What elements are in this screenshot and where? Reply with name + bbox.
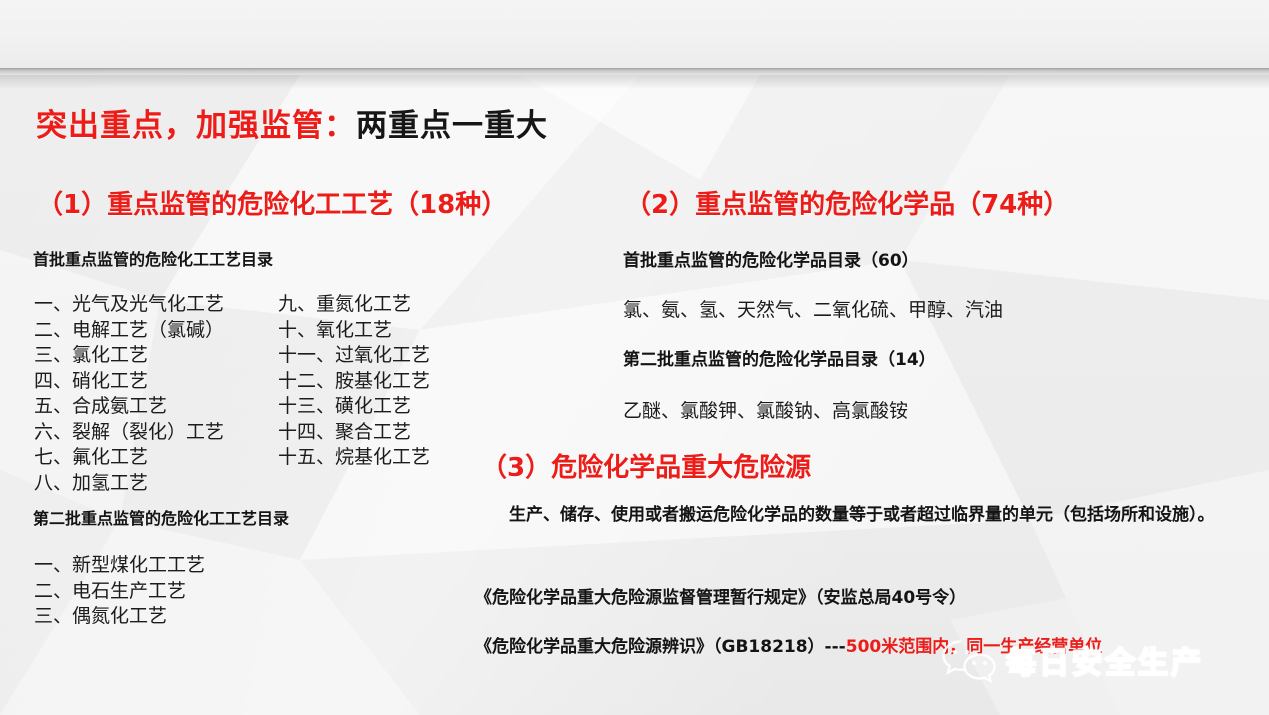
section-3-body-text: 生产、储存、使用或者搬运危险化学品的数量等于或者超过临界量的单元（包括场所和设施… bbox=[475, 502, 1265, 529]
list-item: 八、加氢工艺 bbox=[34, 471, 224, 497]
slide-content: 突出重点，加强监管：两重点一重大 （1）重点监管的危险化工工艺（18种） （2）… bbox=[0, 0, 1269, 715]
process-list-column-b: 九、重氮化工艺 十、氧化工艺 十一、过氧化工艺 十二、胺基化工艺 十三、磺化工艺… bbox=[278, 292, 430, 471]
list-item: 一、光气及光气化工艺 bbox=[34, 292, 224, 318]
list-item: 三、偶氮化工艺 bbox=[34, 604, 205, 630]
right-chemical-list-1: 氯、氨、氢、天然气、二氧化硫、甲醇、汽油 bbox=[623, 295, 1003, 322]
left-subtitle-first-batch: 首批重点监管的危险化工工艺目录 bbox=[33, 246, 273, 270]
section-1-heading: （1）重点监管的危险化工工艺（18种） bbox=[37, 184, 507, 221]
section-3-heading: （3）危险化学品重大危险源 bbox=[481, 447, 811, 484]
reference-2-black: 《危险化学品重大危险源辨识》（GB18218）--- bbox=[475, 637, 846, 657]
left-subtitle-second-batch: 第二批重点监管的危险化工工艺目录 bbox=[33, 505, 289, 529]
process-list-column-c: 一、新型煤化工工艺 二、电石生产工艺 三、偶氮化工艺 bbox=[34, 553, 205, 630]
main-heading: 突出重点，加强监管：两重点一重大 bbox=[36, 100, 548, 145]
section-3-reference-2: 《危险化学品重大危险源辨识》（GB18218）---500米范围内，同一生产经营… bbox=[475, 632, 1102, 657]
list-item: 十五、烷基化工艺 bbox=[278, 445, 430, 471]
list-item: 十一、过氧化工艺 bbox=[278, 343, 430, 369]
list-item: 二、电解工艺（氯碱） bbox=[34, 318, 224, 344]
list-item: 十三、磺化工艺 bbox=[278, 394, 430, 420]
list-item: 三、氯化工艺 bbox=[34, 343, 224, 369]
list-item: 一、新型煤化工工艺 bbox=[34, 553, 205, 579]
right-subtitle-first-batch: 首批重点监管的危险化学品目录（60） bbox=[623, 246, 919, 271]
right-chemical-list-2: 乙醚、氯酸钾、氯酸钠、高氯酸铵 bbox=[623, 396, 908, 423]
right-subtitle-second-batch: 第二批重点监管的危险化学品目录（14） bbox=[623, 345, 936, 370]
list-item: 七、氟化工艺 bbox=[34, 445, 224, 471]
list-item: 十二、胺基化工艺 bbox=[278, 369, 430, 395]
main-heading-black: 两重点一重大 bbox=[356, 108, 548, 144]
list-item: 十、氧化工艺 bbox=[278, 318, 430, 344]
list-item: 四、硝化工艺 bbox=[34, 369, 224, 395]
reference-2-red: 500米范围内，同一生产经营单位 bbox=[846, 637, 1103, 657]
list-item: 十四、聚合工艺 bbox=[278, 420, 430, 446]
list-item: 九、重氮化工艺 bbox=[278, 292, 430, 318]
section-2-heading: （2）重点监管的危险化学品（74种） bbox=[625, 184, 1069, 221]
process-list-column-a: 一、光气及光气化工艺 二、电解工艺（氯碱） 三、氯化工艺 四、硝化工艺 五、合成… bbox=[34, 292, 224, 496]
list-item: 二、电石生产工艺 bbox=[34, 579, 205, 605]
list-item: 六、裂解（裂化）工艺 bbox=[34, 420, 224, 446]
main-heading-red: 突出重点，加强监管： bbox=[36, 108, 356, 144]
section-3-reference-1: 《危险化学品重大危险源监督管理暂行规定》（安监总局40号令） bbox=[475, 583, 966, 608]
list-item: 五、合成氨工艺 bbox=[34, 394, 224, 420]
slide-canvas: 《危险化学品安全管理条例》 法律法规 突出重点，加强监管：两重点一重大 （1）重… bbox=[0, 0, 1269, 715]
